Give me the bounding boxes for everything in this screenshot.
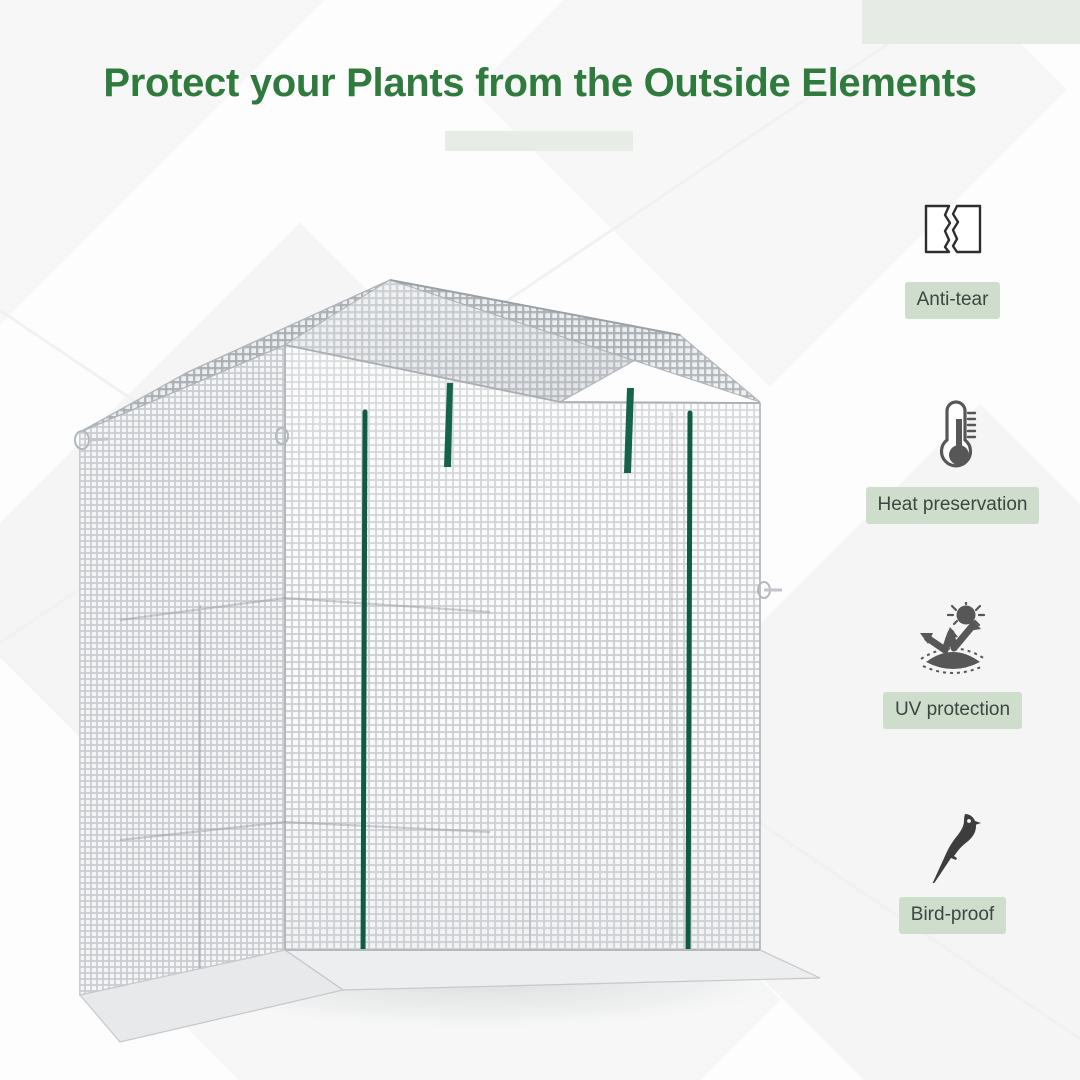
sun-shield-icon bbox=[910, 596, 996, 682]
bird-icon bbox=[921, 801, 985, 887]
door-zipper-left bbox=[363, 412, 365, 965]
sage-corner-block bbox=[862, 0, 1080, 44]
feature-heat-preservation: Heat preservation bbox=[845, 391, 1060, 596]
feature-label: Anti-tear bbox=[905, 282, 1001, 319]
feature-label: UV protection bbox=[883, 692, 1022, 729]
tear-fabric-icon bbox=[922, 186, 984, 272]
thermometer-icon bbox=[924, 391, 982, 477]
sage-underline-bar bbox=[445, 131, 633, 151]
feature-list: Anti-tear Heat preservation bbox=[845, 186, 1060, 1006]
feature-anti-tear: Anti-tear bbox=[845, 186, 1060, 391]
door-zipper-right bbox=[688, 413, 690, 965]
greenhouse-product-image bbox=[60, 150, 860, 1050]
feature-uv-protection: UV protection bbox=[845, 596, 1060, 801]
feature-label: Heat preservation bbox=[866, 487, 1040, 524]
banner-canvas: Protect your Plants from the Outside Ele… bbox=[0, 0, 1080, 1080]
page-title: Protect your Plants from the Outside Ele… bbox=[0, 61, 1080, 106]
feature-bird-proof: Bird-proof bbox=[845, 801, 1060, 1006]
feature-label: Bird-proof bbox=[899, 897, 1006, 934]
